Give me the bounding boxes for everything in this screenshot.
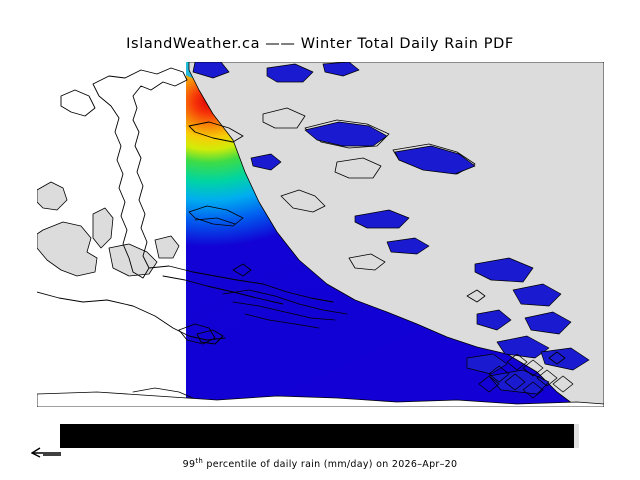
colorbar-gradient-bar[interactable] xyxy=(60,424,574,448)
colorbar-end-cap xyxy=(574,424,579,448)
page-title: IslandWeather.ca —— Winter Total Daily R… xyxy=(0,36,640,52)
map-panel[interactable] xyxy=(37,62,604,407)
colorbar-caption: 99th percentile of daily rain (mm/day) o… xyxy=(0,457,640,470)
colorbar[interactable] xyxy=(60,424,579,448)
caption-percentile-suffix: th xyxy=(195,457,203,465)
caption-rest: percentile of daily rain (mm/day) on 202… xyxy=(203,459,457,470)
caption-percentile-value: 99 xyxy=(183,459,196,470)
coastline-overlay xyxy=(37,62,604,407)
figure-canvas: IslandWeather.ca —— Winter Total Daily R… xyxy=(0,0,640,480)
